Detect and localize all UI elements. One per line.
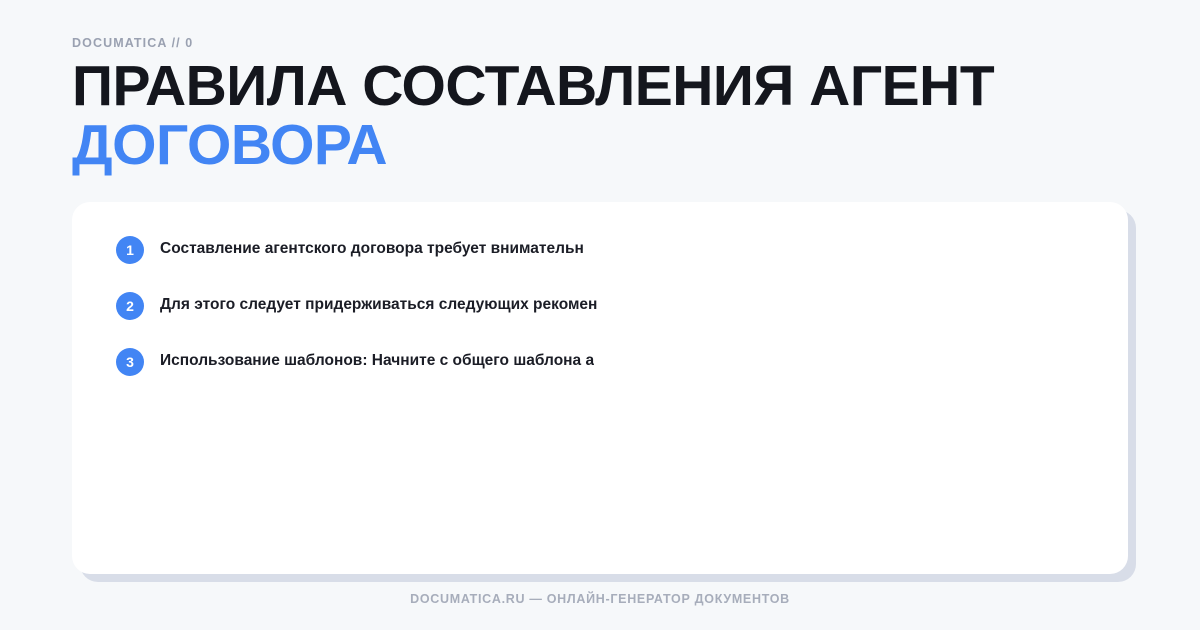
content-card: 1 Составление агентского договора требуе… bbox=[72, 202, 1128, 574]
list-item-label: Для этого следует придерживаться следующ… bbox=[160, 295, 597, 316]
page-title-line-1: ПРАВИЛА СОСТАВЛЕНИЯ АГЕНТ bbox=[72, 54, 994, 118]
list-item: 3 Использование шаблонов: Начните с обще… bbox=[116, 348, 1084, 376]
header: DOCUMATICA // 0 ПРАВИЛА СОСТАВЛЕНИЯ АГЕН… bbox=[0, 0, 1200, 176]
recommendation-list: 1 Составление агентского договора требуе… bbox=[116, 236, 1084, 376]
list-item-number-badge: 1 bbox=[116, 236, 144, 264]
footer-caption: DOCUMATICA.RU — ОНЛАЙН-ГЕНЕРАТОР ДОКУМЕН… bbox=[0, 574, 1200, 630]
list-item-label: Использование шаблонов: Начните с общего… bbox=[160, 351, 594, 372]
brand-eyebrow: DOCUMATICA // 0 bbox=[72, 36, 1128, 51]
content-card-wrapper: 1 Составление агентского договора требуе… bbox=[72, 202, 1128, 574]
list-item-label: Составление агентского договора требует … bbox=[160, 239, 584, 260]
list-item-number-badge: 3 bbox=[116, 348, 144, 376]
slide-root: DOCUMATICA // 0 ПРАВИЛА СОСТАВЛЕНИЯ АГЕН… bbox=[0, 0, 1200, 630]
list-item: 2 Для этого следует придерживаться следу… bbox=[116, 292, 1084, 320]
page-title: ПРАВИЛА СОСТАВЛЕНИЯ АГЕНТ ДОГОВОРА bbox=[72, 57, 1128, 176]
list-item: 1 Составление агентского договора требуе… bbox=[116, 236, 1084, 264]
list-item-number-badge: 2 bbox=[116, 292, 144, 320]
page-title-line-2: ДОГОВОРА bbox=[72, 116, 1128, 175]
